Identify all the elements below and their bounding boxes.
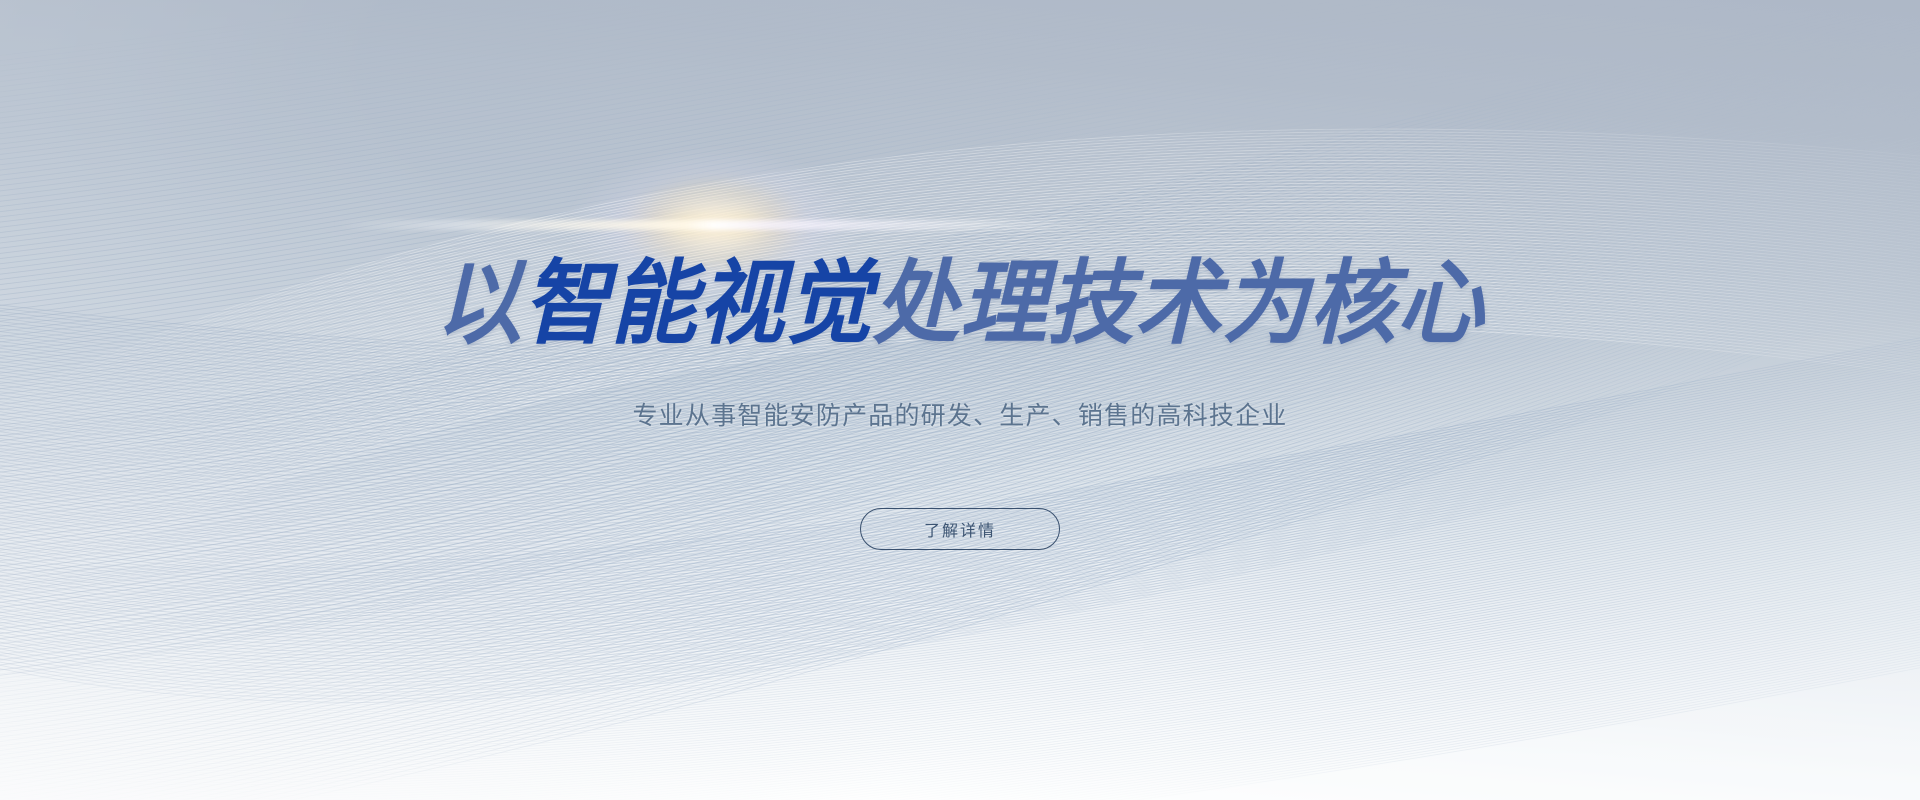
learn-more-button[interactable]: 了解详情 [860,508,1060,550]
headline-segment-1: 以 [435,253,522,355]
hero-cta-container: 了解详情 [0,508,1920,550]
hero-content: 以智能视觉处理技术为核心 专业从事智能安防产品的研发、生产、销售的高科技企业 了… [0,0,1920,800]
hero-banner: 以智能视觉处理技术为核心 专业从事智能安防产品的研发、生产、销售的高科技企业 了… [0,0,1920,800]
hero-subtitle: 专业从事智能安防产品的研发、生产、销售的高科技企业 [0,400,1920,433]
headline-segment-2: 智能视觉 [523,253,873,355]
hero-headline: 以智能视觉处理技术为核心 [58,258,1863,350]
headline-segment-3: 处理技术为核心 [873,253,1485,355]
